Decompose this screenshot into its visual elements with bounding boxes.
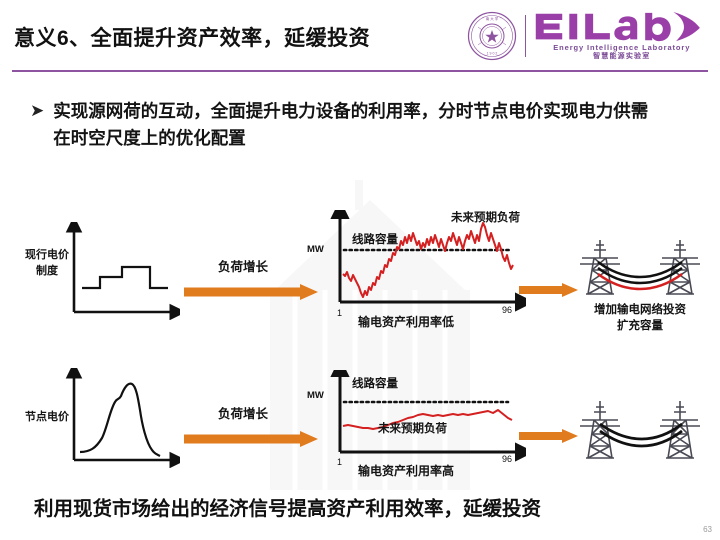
step-tariff-chart (60, 222, 180, 320)
nodal-price-chart (60, 368, 180, 468)
logo-group: 南 大 学 1 9 0 2 (467, 8, 710, 64)
series-label-future-load-2: 未来预期负荷 (378, 420, 447, 436)
bullet-marker-icon: ➤ (30, 98, 44, 151)
result-arrow-1 (518, 281, 578, 299)
series-label-future-load-1: 未来预期负荷 (451, 209, 520, 225)
footer-caption: 利用现货市场给出的经济信号提高资产利用效率，延缓投资 (34, 492, 541, 521)
svg-text:南 大 学: 南 大 学 (485, 16, 498, 21)
chart-caption-2: 输电资产利用率高 (358, 462, 454, 479)
y-axis-unit-1: MW (307, 244, 324, 255)
load-growth-arrow-2 (182, 429, 318, 449)
eilab-subtitle-cn: 智慧能源实验室 (593, 53, 650, 60)
x-tick-start-1: 1 (337, 308, 342, 318)
y-axis-unit-2: MW (307, 390, 324, 401)
result-arrow-2 (518, 427, 578, 445)
arrow-label-load-growth-2: 负荷增长 (218, 403, 268, 422)
arrow-label-load-growth-1: 负荷增长 (218, 256, 268, 275)
header-divider (12, 70, 708, 72)
eilab-wordmark-icon (534, 12, 710, 42)
result-text-expand-capacity: 增加输电网络投资 扩充容量 (566, 302, 714, 334)
page-number: 63 (703, 525, 712, 534)
capacity-label-1: 线路容量 (352, 231, 398, 247)
chart-caption-1: 输电资产利用率低 (358, 313, 454, 330)
eilab-subtitle: Energy Intelligence Laboratory (553, 44, 690, 52)
load-growth-arrow-1 (182, 282, 318, 302)
capacity-label-2: 线路容量 (352, 375, 398, 391)
future-load-chart-low-utilization (326, 210, 526, 312)
x-tick-start-2: 1 (337, 457, 342, 467)
x-tick-end-2: 96 (502, 454, 512, 464)
transmission-tower-icon-1 (570, 236, 710, 298)
transmission-tower-icon-2 (570, 392, 710, 464)
slide-canvas: 意义6、全面提升资产效率，延缓投资 南 大 学 1 9 0 2 (0, 0, 720, 540)
logo-divider (525, 15, 526, 57)
x-tick-end-1: 96 (502, 305, 512, 315)
eilab-logo: Energy Intelligence Laboratory 智慧能源实验室 (534, 12, 710, 60)
bullet-text: 实现源网荷的互动，全面提升电力设备的利用率，分时节点电价实现电力供需在时空尺度上… (53, 98, 650, 151)
slide-header: 意义6、全面提升资产效率，延缓投资 南 大 学 1 9 0 2 (0, 0, 720, 72)
svg-text:1 9 0 2: 1 9 0 2 (486, 52, 497, 56)
bullet-item: ➤ 实现源网荷的互动，全面提升电力设备的利用率，分时节点电价实现电力供需在时空尺… (30, 98, 650, 151)
university-seal-icon: 南 大 学 1 9 0 2 (467, 11, 517, 61)
page-title: 意义6、全面提升资产效率，延缓投资 (14, 22, 370, 52)
